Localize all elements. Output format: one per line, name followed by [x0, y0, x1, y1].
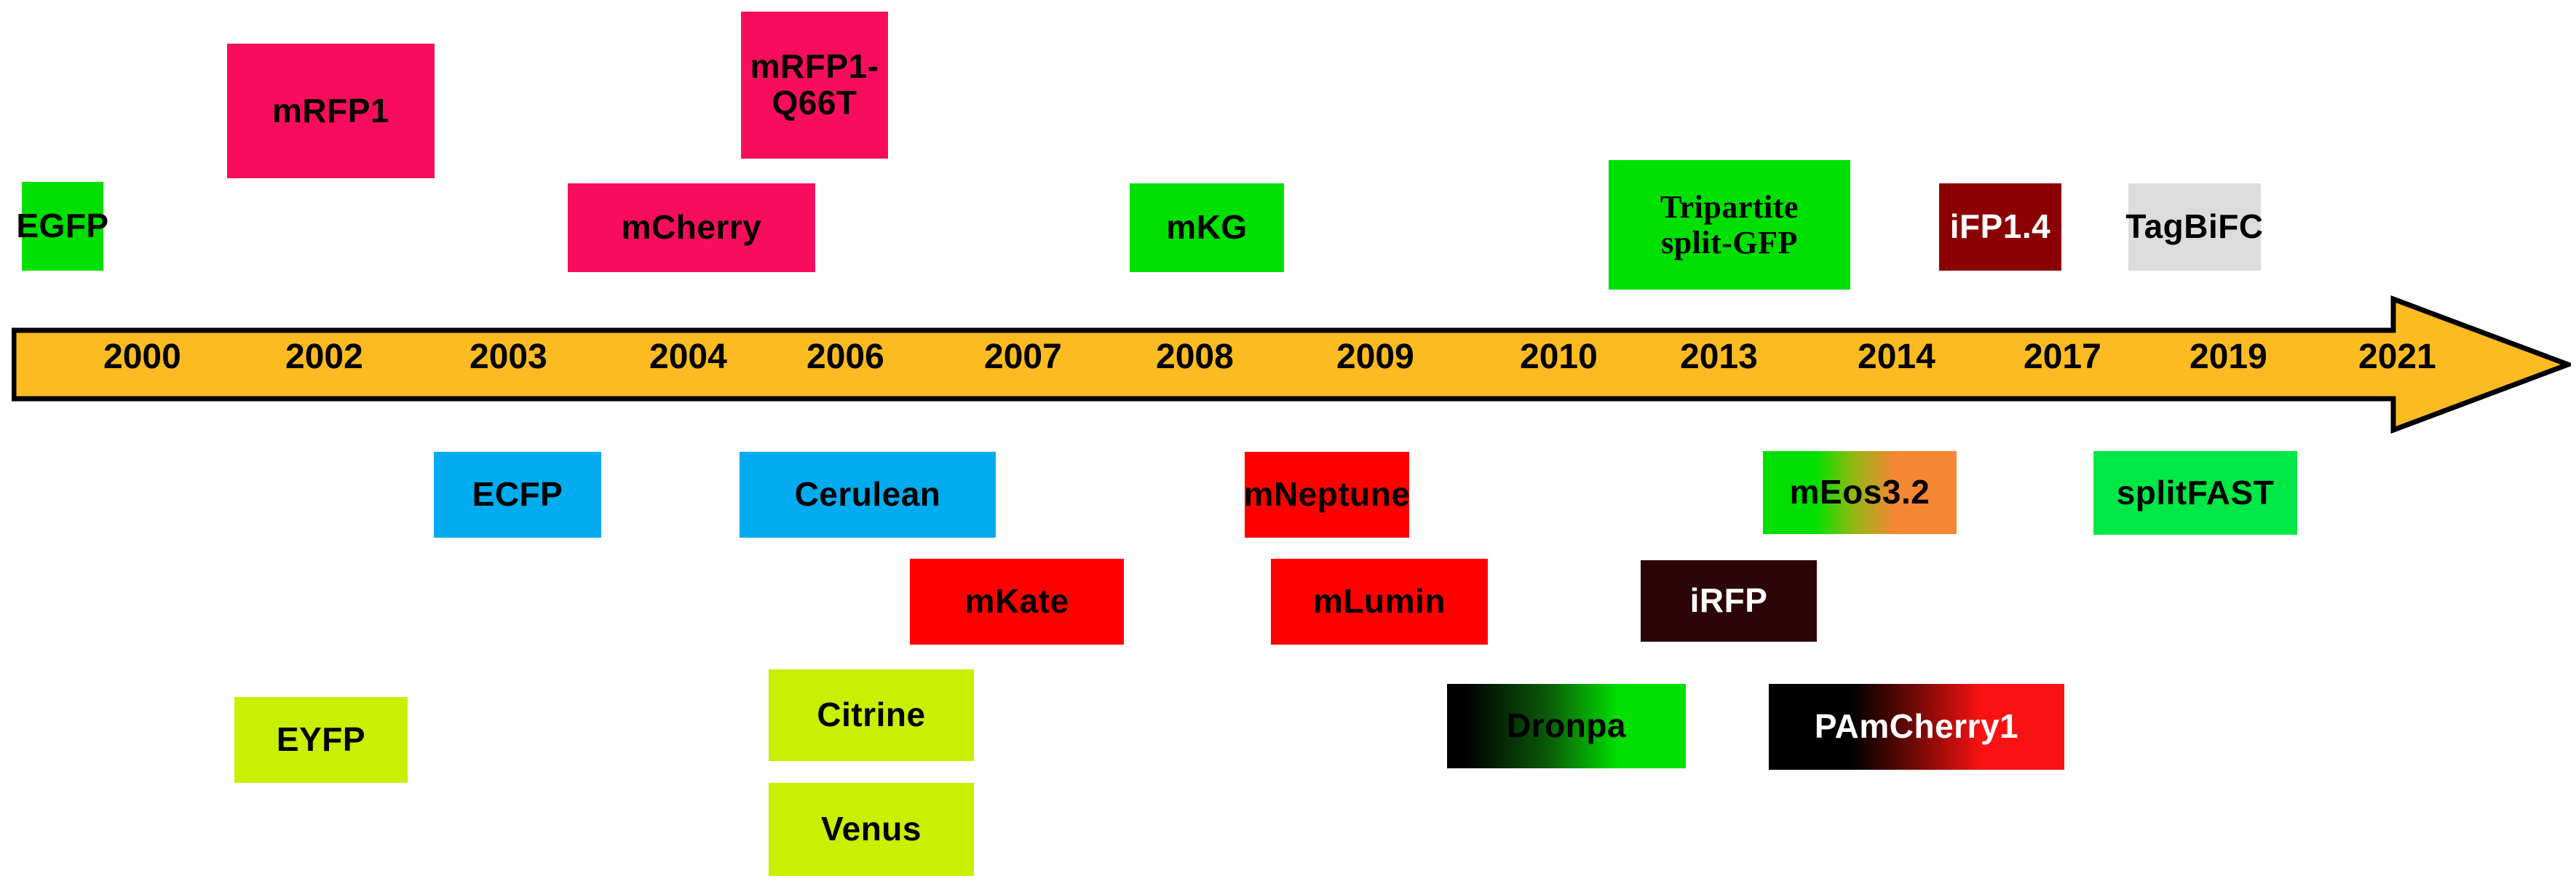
fp-box-ifp1-4: iFP1.4 [1939, 183, 2061, 271]
fp-box-mrfp1: mRFP1 [227, 44, 435, 178]
arrow-polygon [14, 299, 2568, 430]
fluorescent-protein-timeline-figure: mRFP1mRFP1- Q66TEGFPmCherrymKGTripartite… [0, 0, 2576, 892]
year-label-2013: 2013 [1680, 337, 1758, 377]
year-label-2010: 2010 [1520, 337, 1598, 377]
year-label-2019: 2019 [2189, 337, 2267, 377]
year-label-2002: 2002 [285, 337, 363, 377]
fp-box-dronpa: Dronpa [1447, 684, 1686, 768]
year-label-2006: 2006 [807, 337, 884, 377]
timeline-arrow [12, 295, 2571, 434]
year-label-2000: 2000 [103, 337, 181, 377]
fp-box-mrfp1--q66t: mRFP1- Q66T [741, 12, 888, 159]
fp-box-egfp: EGFP [22, 182, 103, 271]
fp-box-eyfp: EYFP [234, 697, 408, 783]
fp-box-mcherry: mCherry [568, 183, 815, 272]
year-label-2009: 2009 [1336, 337, 1414, 377]
year-label-2008: 2008 [1156, 337, 1234, 377]
year-label-2003: 2003 [469, 337, 547, 377]
fp-box-ecfp: ECFP [434, 452, 601, 538]
fp-box-cerulean: Cerulean [740, 452, 996, 538]
fp-box-mlumin: mLumin [1271, 559, 1488, 645]
year-label-2021: 2021 [2358, 337, 2436, 377]
fp-box-irfp: iRFP [1641, 560, 1817, 642]
fp-box-pamcherry1: PAmCherry1 [1769, 684, 2064, 770]
fp-box-venus: Venus [769, 783, 974, 876]
year-label-2017: 2017 [2024, 337, 2101, 377]
fp-box-tripartite-split-gfp: Tripartite split-GFP [1609, 160, 1850, 290]
fp-box-mkg: mKG [1130, 183, 1284, 272]
timeline-arrow-shape [12, 295, 2571, 434]
fp-box-mneptune: mNeptune [1245, 452, 1409, 538]
fp-box-mkate: mKate [910, 559, 1124, 645]
year-label-2007: 2007 [984, 337, 1062, 377]
fp-box-tagbifc: TagBiFC [2128, 183, 2261, 271]
year-label-2004: 2004 [649, 337, 727, 377]
fp-box-splitfast: splitFAST [2093, 451, 2297, 535]
fp-box-meos3-2: mEos3.2 [1763, 451, 1957, 534]
year-label-2014: 2014 [1858, 337, 1935, 377]
fp-box-citrine: Citrine [769, 669, 974, 761]
